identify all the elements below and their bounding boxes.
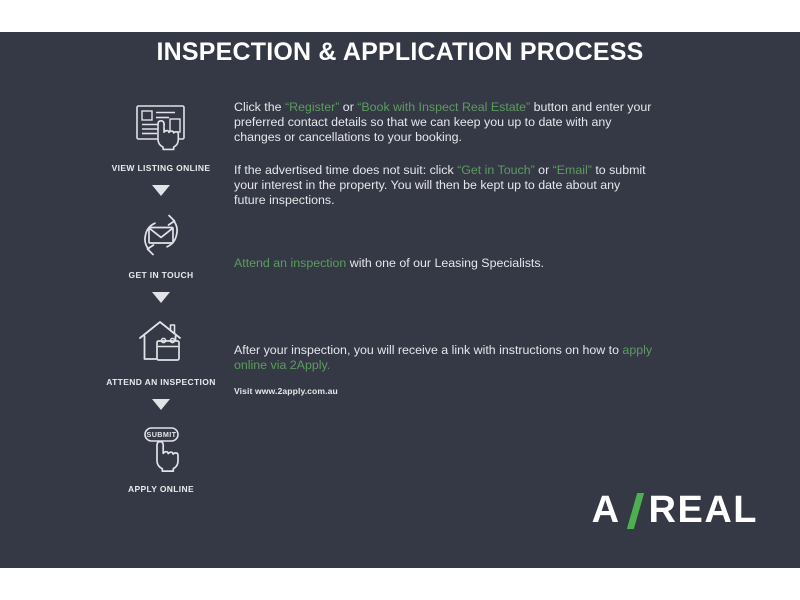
envelope-refresh-icon — [86, 207, 236, 263]
process-step-get-in-touch: GET IN TOUCH — [86, 207, 236, 280]
body-text-run: After your inspection, you will receive … — [234, 343, 622, 357]
body-text-run: or — [339, 100, 357, 114]
step-description-apply-online: After your inspection, you will receive … — [234, 343, 654, 373]
slide-canvas: INSPECTION & APPLICATION PROCESS VIEW LI… — [0, 0, 800, 600]
down-triangle-icon — [152, 399, 170, 410]
process-step-attend-an-inspection: ATTEND AN INSPECTION — [86, 314, 236, 387]
down-triangle-icon — [152, 292, 170, 303]
highlighted-phrase: “Get in Touch” — [457, 163, 535, 177]
submit-button-cursor-icon: SUBMIT — [86, 421, 236, 477]
step-description-view-listing-online: Click the “Register” or “Book with Inspe… — [234, 100, 654, 163]
house-calendar-icon — [86, 314, 236, 370]
highlighted-phrase: “Email” — [553, 163, 592, 177]
step-label: ATTEND AN INSPECTION — [86, 377, 236, 387]
step-description-get-in-touch: If the advertised time does not suit: cl… — [234, 163, 654, 256]
step-connector-arrow-2 — [86, 280, 236, 314]
process-steps-column: VIEW LISTING ONLINE GET IN TOUCH — [86, 100, 236, 494]
listing-window-cursor-icon — [86, 100, 236, 156]
page-title: INSPECTION & APPLICATION PROCESS — [0, 38, 800, 67]
step-connector-arrow-3 — [86, 387, 236, 421]
body-text-run: or — [535, 163, 553, 177]
step-connector-arrow-1 — [86, 173, 236, 207]
down-triangle-icon — [152, 185, 170, 196]
body-text-run: If the advertised time does not suit: cl… — [234, 163, 457, 177]
body-text-run: with one of our Leasing Specialists. — [346, 256, 544, 270]
logo-text-right: REAL — [649, 489, 758, 532]
step-label: APPLY ONLINE — [86, 484, 236, 494]
svg-text:SUBMIT: SUBMIT — [147, 430, 177, 439]
step-label: VIEW LISTING ONLINE — [86, 163, 236, 173]
logo-text-left: A — [592, 489, 621, 532]
highlighted-phrase: “Register” — [285, 100, 339, 114]
process-step-apply-online: SUBMIT APPLY ONLINE — [86, 421, 236, 494]
body-text-run: Click the — [234, 100, 285, 114]
process-descriptions-column: Click the “Register” or “Book with Inspe… — [234, 100, 654, 396]
visit-url-note: Visit www.2apply.com.au — [234, 386, 654, 396]
step-label: GET IN TOUCH — [86, 270, 236, 280]
highlighted-phrase: Attend an inspection — [234, 256, 346, 270]
process-step-view-listing-online: VIEW LISTING ONLINE — [86, 100, 236, 173]
highlighted-phrase: “Book with Inspect Real Estate” — [357, 100, 530, 114]
step-description-attend-an-inspection: Attend an inspection with one of our Lea… — [234, 256, 654, 343]
brand-logo: A REAL — [592, 489, 758, 532]
logo-slash-icon — [625, 491, 647, 531]
